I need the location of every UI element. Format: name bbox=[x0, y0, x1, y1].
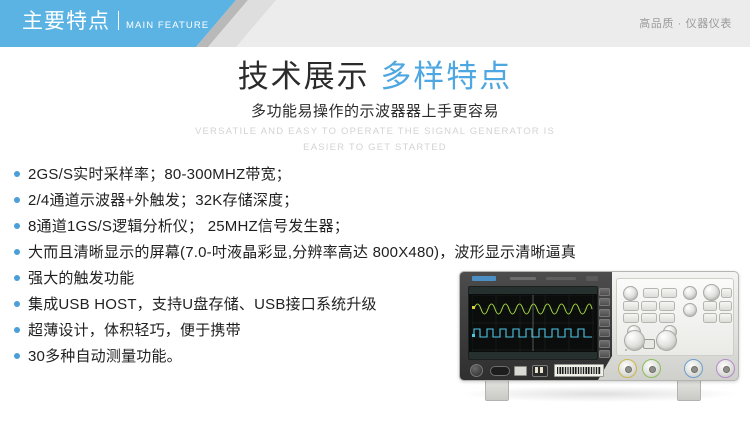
measure-button[interactable] bbox=[623, 301, 639, 311]
oscilloscope-display bbox=[468, 286, 598, 360]
io-pin-right bbox=[540, 367, 543, 373]
run-stop-button[interactable] bbox=[721, 288, 732, 298]
power-button[interactable] bbox=[470, 364, 483, 377]
feature-text: 8通道1GS/S逻辑分析仪； 25MHZ信号发生器； bbox=[28, 214, 349, 239]
front-port-row bbox=[468, 362, 604, 376]
list-item: 2/4通道示波器+外触发；32K存储深度； bbox=[14, 188, 654, 214]
feature-text: 2/4通道示波器+外触发；32K存储深度； bbox=[28, 188, 299, 213]
list-item: 8通道1GS/S逻辑分析仪； 25MHZ信号发生器； bbox=[14, 214, 654, 240]
softkey-button[interactable] bbox=[599, 350, 610, 358]
bnc-connector-row bbox=[618, 358, 736, 378]
softkey-button[interactable] bbox=[599, 329, 610, 337]
knob-vertical-position[interactable] bbox=[623, 286, 638, 301]
feature-text: 强大的触发功能 bbox=[28, 266, 134, 291]
dual-io-port bbox=[532, 365, 548, 377]
display-status-bar-top bbox=[469, 287, 597, 294]
product-image-oscilloscope bbox=[455, 268, 745, 418]
model-label bbox=[510, 277, 536, 280]
badge-label bbox=[586, 276, 598, 281]
display-softkey-group[interactable] bbox=[599, 288, 609, 358]
feature-text: 大而且清晰显示的屏幕(7.0-吋液晶彩显,分辨率高达 800X480)，波形显示… bbox=[28, 240, 576, 265]
knob-horizontal-position[interactable] bbox=[683, 286, 697, 300]
softkey-button[interactable] bbox=[599, 288, 610, 296]
softkey-button[interactable] bbox=[599, 319, 610, 327]
force-trigger-button[interactable] bbox=[719, 313, 732, 323]
channel-1-marker bbox=[472, 306, 475, 309]
display-waveform-area bbox=[472, 295, 594, 351]
bullet-dot-icon bbox=[14, 197, 20, 203]
header-title-cn: 主要特点 bbox=[22, 8, 110, 36]
knob-time-base[interactable] bbox=[683, 303, 697, 317]
page-subtitle-en-line2: EASIER TO GET STARTED bbox=[0, 141, 750, 154]
header-tagline: 高品质 · 仪器仪表 bbox=[639, 15, 732, 31]
title-block: 技术展示 多样特点 多功能易操作的示波器器上手更容易 VERSATILE AND… bbox=[0, 57, 750, 154]
header-title-divider bbox=[118, 11, 119, 30]
bnc-ch2[interactable] bbox=[642, 359, 661, 378]
knob-placeholder bbox=[625, 349, 627, 351]
page-title-primary: 技术展示 bbox=[238, 59, 370, 94]
bullet-dot-icon bbox=[14, 171, 20, 177]
bullet-dot-icon bbox=[14, 275, 20, 281]
spec-label bbox=[546, 277, 576, 280]
menu-button[interactable] bbox=[643, 288, 659, 298]
display-status-bar-bottom bbox=[469, 352, 597, 359]
bullet-dot-icon bbox=[14, 249, 20, 255]
feature-text: 30多种自动测量功能。 bbox=[28, 344, 182, 369]
io-pin-left bbox=[535, 367, 538, 373]
softkey-button[interactable] bbox=[599, 340, 610, 348]
display-button[interactable] bbox=[659, 301, 675, 311]
feature-text: 2GS/S实时采样率；80-300MHZ带宽； bbox=[28, 162, 291, 187]
logic-analyzer-connector bbox=[554, 364, 604, 377]
page-title: 技术展示 多样特点 bbox=[0, 57, 750, 97]
bnc-ch1[interactable] bbox=[618, 359, 637, 378]
waveform-svg bbox=[472, 295, 594, 351]
default-setup-button[interactable] bbox=[719, 301, 732, 311]
bnc-ch3[interactable] bbox=[684, 359, 703, 378]
bullet-dot-icon bbox=[14, 353, 20, 359]
softkey-button[interactable] bbox=[599, 298, 610, 306]
list-item: 大而且清晰显示的屏幕(7.0-吋液晶彩显,分辨率高达 800X480)，波形显示… bbox=[14, 240, 654, 266]
page-subtitle: 多功能易操作的示波器器上手更容易 bbox=[0, 101, 750, 122]
bullet-dot-icon bbox=[14, 223, 20, 229]
feature-text: 超薄设计，体积轻巧，便于携带 bbox=[28, 318, 241, 343]
help-button[interactable] bbox=[659, 313, 675, 323]
bullet-dot-icon bbox=[14, 327, 20, 333]
utility-button[interactable] bbox=[623, 313, 639, 323]
cursor-button[interactable] bbox=[641, 301, 657, 311]
bnc-ch4[interactable] bbox=[716, 359, 735, 378]
channel-2-marker bbox=[472, 334, 475, 337]
page-header: 主要特点 MAIN FEATURE 高品质 · 仪器仪表 bbox=[0, 0, 750, 47]
oscilloscope-brand-strip bbox=[466, 275, 606, 284]
feature-text: 集成USB HOST，支持U盘存储、USB接口系统升级 bbox=[28, 292, 377, 317]
acquire-button[interactable] bbox=[661, 288, 677, 298]
connector-pins bbox=[557, 367, 601, 374]
page-title-accent: 多样特点 bbox=[380, 59, 512, 94]
knob-trigger-level[interactable] bbox=[703, 284, 720, 301]
probe-compensation-port bbox=[490, 366, 510, 376]
brand-logo-icon bbox=[472, 276, 496, 281]
oscilloscope-chassis bbox=[459, 271, 739, 381]
save-recall-button[interactable] bbox=[641, 313, 657, 323]
single-button[interactable] bbox=[703, 313, 717, 323]
page-subtitle-en-line1: VERSATILE AND EASY TO OPERATE THE SIGNAL… bbox=[0, 125, 750, 138]
autoset-button[interactable] bbox=[703, 301, 717, 311]
header-title-en: MAIN FEATURE bbox=[126, 20, 209, 31]
usb-host-port bbox=[514, 366, 527, 376]
knob-horizontal-scale[interactable] bbox=[656, 330, 677, 351]
header-title-group: 主要特点 MAIN FEATURE bbox=[22, 8, 209, 36]
knob-vertical-scale[interactable] bbox=[624, 330, 645, 351]
bullet-dot-icon bbox=[14, 301, 20, 307]
softkey-button[interactable] bbox=[599, 309, 610, 317]
list-item: 2GS/S实时采样率；80-300MHZ带宽； bbox=[14, 162, 654, 188]
